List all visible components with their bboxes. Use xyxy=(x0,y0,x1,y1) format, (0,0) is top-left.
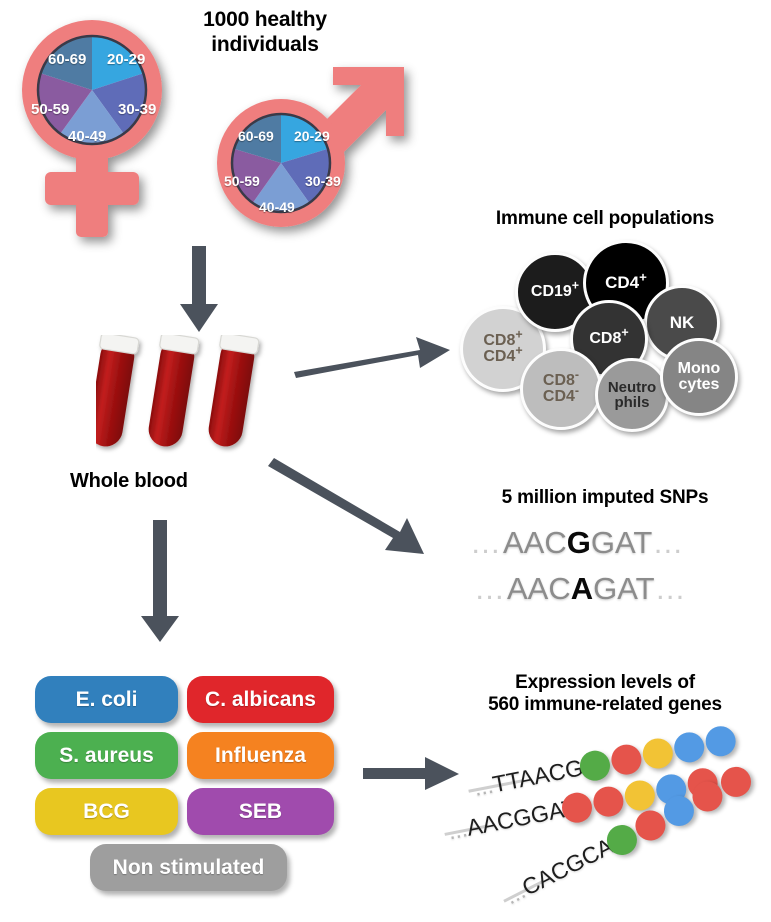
stimulus-influenza[interactable]: Influenza xyxy=(187,732,334,779)
section-title-snps: 5 million imputed SNPs xyxy=(455,487,755,509)
strand-1-bead-4 xyxy=(672,730,707,765)
cell-cd8neg-cd4neg[interactable]: CD8-CD4- xyxy=(520,348,602,430)
arrow-blood-to-snps xyxy=(272,456,447,561)
cell-label-cd8pos: CD8+ xyxy=(589,331,628,347)
snp-left-bases-2: AAC xyxy=(507,571,571,607)
snp-prefix-dots-2: … xyxy=(474,571,507,607)
cell-label-cd4: CD4+ xyxy=(605,274,647,291)
cell-label-monocytes: Monocytes xyxy=(678,361,721,394)
figure-canvas: 1000 healthy individuals Immune cell pop… xyxy=(0,0,771,922)
stimulus-non-stimulated[interactable]: Non stimulated xyxy=(90,844,287,891)
cell-label-neutrophils: Neutrophils xyxy=(608,380,656,411)
arrow-stimuli-to-expression xyxy=(363,757,461,793)
snp-left-bases-1: AAC xyxy=(503,525,567,561)
blood-tubes-icon xyxy=(96,335,286,465)
snp-sequence-block: …AACGGAT… …AACAGAT… xyxy=(470,525,750,615)
cell-label-cd8neg-cd4neg: CD8-CD4- xyxy=(543,373,579,406)
snp-variant-base-2: A xyxy=(571,571,593,607)
strand-1-bead-5 xyxy=(703,724,738,759)
stimulus-c-albicans[interactable]: C. albicans xyxy=(187,676,334,723)
arrow-individuals-to-blood xyxy=(178,246,222,336)
stimulus-seb[interactable]: SEB xyxy=(187,788,334,835)
snp-prefix-dots: … xyxy=(470,525,503,561)
male-symbol: 20-29 30-39 40-49 50-59 60-69 xyxy=(198,68,418,248)
expression-strands: ...TTAACGG ...AACGGAT ...CACGCAA xyxy=(455,735,771,915)
section-title-immune: Immune cell populations xyxy=(455,208,755,230)
stimulus-bcg[interactable]: BCG xyxy=(35,788,178,835)
label-whole-blood: Whole blood xyxy=(70,470,270,494)
strand-2-bead-2 xyxy=(591,784,626,819)
cell-monocytes[interactable]: Monocytes xyxy=(660,338,738,416)
strand-1-bead-3 xyxy=(640,736,675,771)
cell-label-nk: NK xyxy=(670,314,695,331)
arrow-blood-to-immune xyxy=(292,330,452,380)
cell-neutrophils[interactable]: Neutrophils xyxy=(595,358,669,432)
cell-label-cd19: CD19+ xyxy=(531,284,579,300)
snp-right-bases-2: GAT xyxy=(593,571,654,607)
arrow-blood-to-stimuli xyxy=(140,520,184,645)
cell-label-cd8pos-cd4pos: CD8+CD4+ xyxy=(483,333,522,366)
section-title-expression: Expression levels of 560 immune-related … xyxy=(450,672,760,717)
stimulus-e-coli[interactable]: E. coli xyxy=(35,676,178,723)
strand-1-bead-2 xyxy=(609,742,644,777)
stimulus-s-aureus[interactable]: S. aureus xyxy=(35,732,178,779)
stimuli-panel: E. coli C. albicans S. aureus Influenza … xyxy=(35,676,345,906)
female-symbol: 20-29 30-39 40-49 50-59 60-69 xyxy=(8,14,188,254)
immune-cell-cluster: CD8+CD4+ CD19+ CD4+ NK CD8+ CD8-CD4- Neu… xyxy=(455,238,755,428)
snp-suffix-dots-1: … xyxy=(652,525,685,561)
snp-row-allele-2: …AACAGAT… xyxy=(474,571,688,607)
page-title: 1000 healthy individuals xyxy=(170,8,360,58)
snp-right-bases-1: GAT xyxy=(591,525,652,561)
snp-suffix-dots-2: … xyxy=(655,571,688,607)
snp-variant-base-1: G xyxy=(567,525,591,561)
snp-row-allele-1: …AACGGAT… xyxy=(470,525,685,561)
